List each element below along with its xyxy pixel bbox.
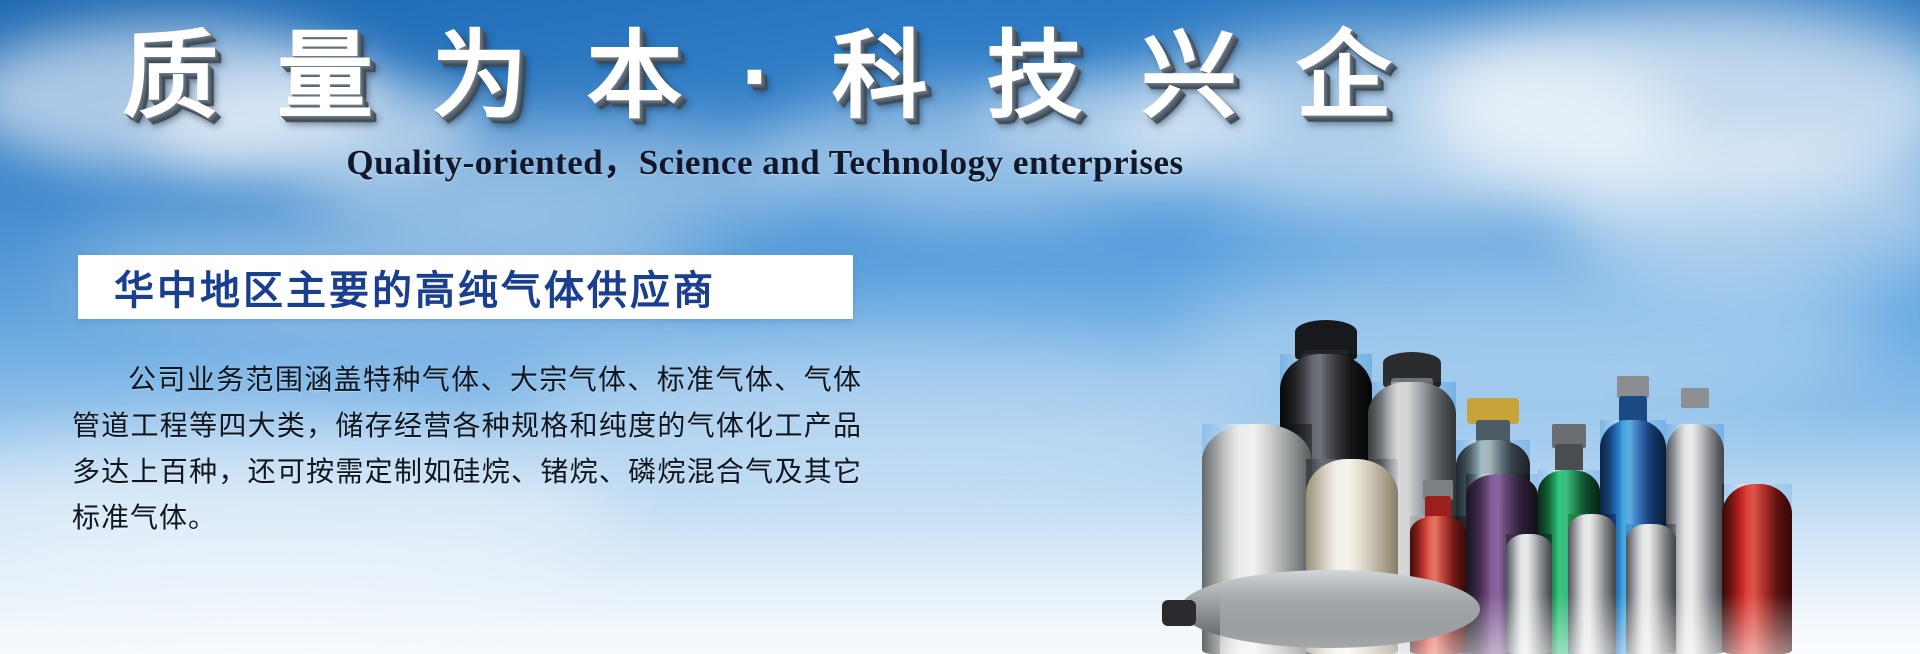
tagline-box: 华中地区主要的高纯气体供应商 bbox=[78, 255, 853, 319]
horizontal-tank-valve bbox=[1162, 600, 1196, 626]
banner-headline: 质 量 为 本 · 科 技 兴 企 bbox=[0, 22, 1530, 132]
photo-ground-shadow bbox=[1220, 594, 1920, 654]
tagline-text: 华中地区主要的高纯气体供应商 bbox=[78, 258, 716, 316]
promo-banner: 质 量 为 本 · 科 技 兴 企 Quality-oriented，Scien… bbox=[0, 0, 1920, 654]
gas-cylinder-group-photo bbox=[1220, 234, 1920, 654]
banner-subtitle: Quality-oriented，Science and Technology … bbox=[0, 134, 1530, 185]
banner-body-copy: 公司业务范围涵盖特种气体、大宗气体、标准气体、气体管道工程等四大类，储存经营各种… bbox=[72, 358, 862, 542]
